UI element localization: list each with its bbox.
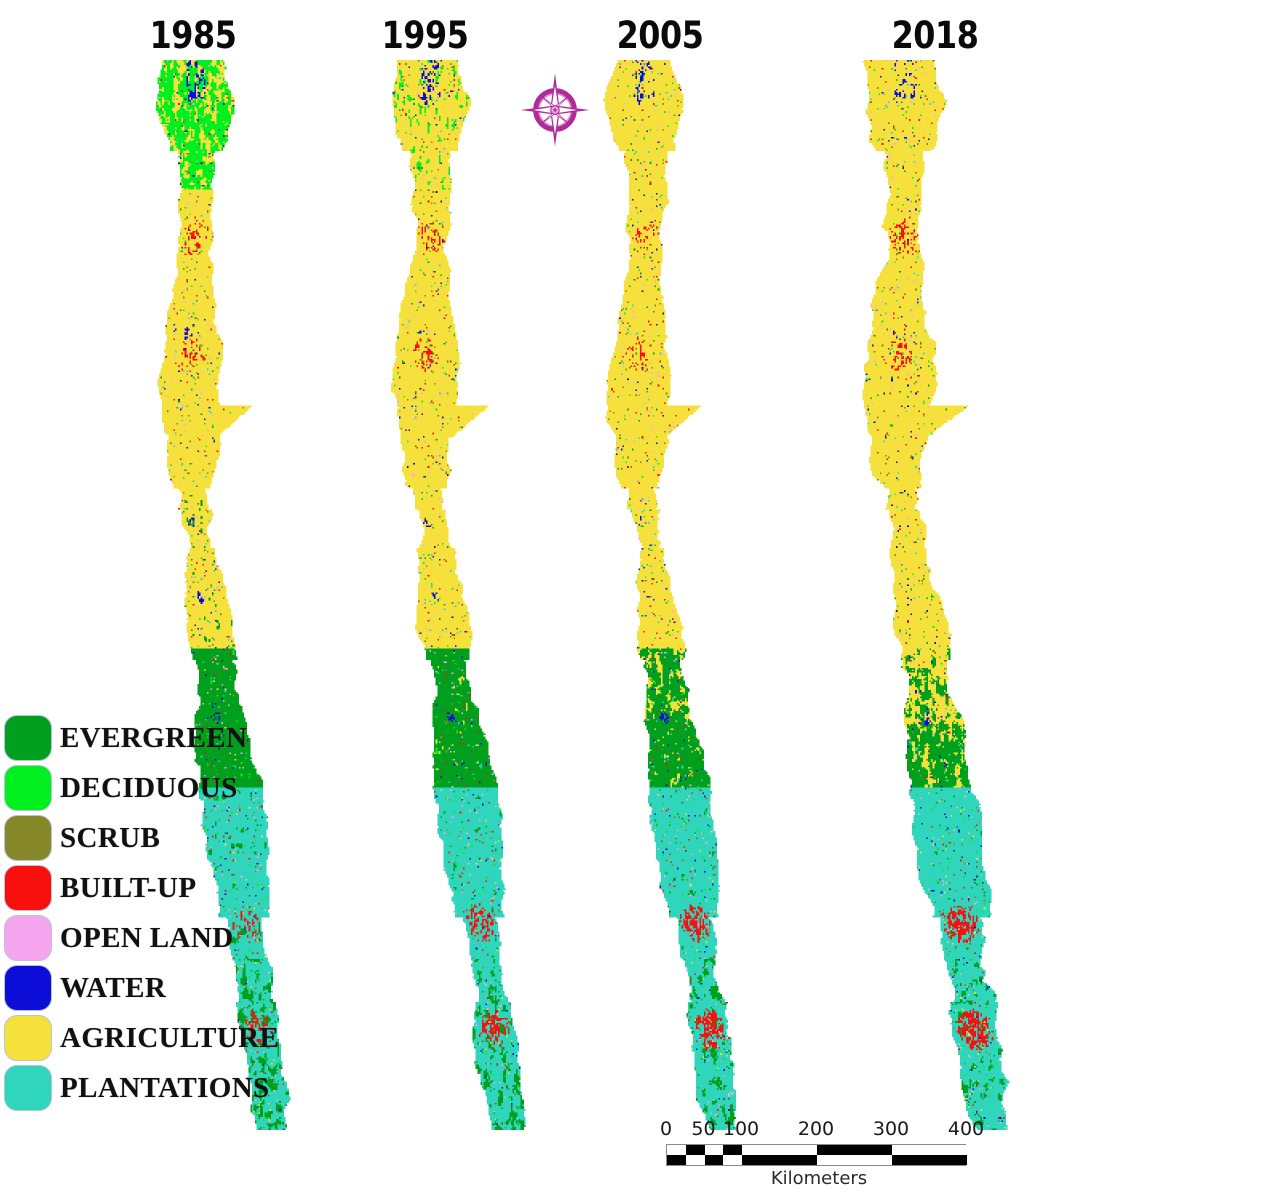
legend-item-builtup: BUILT-UP <box>4 863 334 913</box>
scale-segment-4-bottom <box>742 1155 817 1165</box>
legend-label-agriculture: AGRICULTURE <box>60 1022 279 1055</box>
north-arrow-compass-rose <box>519 72 591 148</box>
legend-swatch-deciduous <box>4 765 52 811</box>
scale-bar-ticks: 050100200300400 <box>660 1118 970 1144</box>
scale-segment-2-bottom <box>705 1155 724 1165</box>
legend-item-water: WATER <box>4 963 334 1013</box>
legend-item-openland: OPEN LAND <box>4 913 334 963</box>
landcover-raster-2005 <box>592 60 757 1130</box>
map-panel-1995 <box>378 60 543 1130</box>
scale-tick-400: 400 <box>948 1118 984 1140</box>
scale-tick-0: 0 <box>660 1118 672 1140</box>
legend-label-evergreen: EVERGREEN <box>60 722 247 755</box>
scale-tick-50: 50 <box>691 1118 715 1140</box>
scale-segment-4-top <box>742 1145 817 1155</box>
year-label-2018: 2018 <box>858 14 1013 57</box>
scale-segment-0-bottom <box>667 1155 686 1165</box>
year-label-1995: 1995 <box>348 14 503 57</box>
year-label-2005: 2005 <box>583 14 738 57</box>
scale-segment-0-top <box>667 1145 686 1155</box>
map-panel-2005 <box>592 60 757 1130</box>
scale-tick-100: 100 <box>723 1118 759 1140</box>
scale-segment-2-top <box>705 1145 724 1155</box>
landcover-raster-2018 <box>845 60 1030 1130</box>
legend-label-scrub: SCRUB <box>60 822 160 855</box>
legend-item-agriculture: AGRICULTURE <box>4 1013 334 1063</box>
legend-item-deciduous: DECIDUOUS <box>4 763 334 813</box>
legend-swatch-water <box>4 965 52 1011</box>
figure-root: 1985199520052018 <box>0 0 1262 1194</box>
scale-segment-5-top <box>817 1145 892 1155</box>
scale-tick-300: 300 <box>873 1118 909 1140</box>
legend-swatch-scrub <box>4 815 52 861</box>
scale-bar: 050100200300400 Kilometers <box>660 1118 970 1189</box>
scale-bar-caption: Kilometers <box>666 1168 972 1189</box>
legend-swatch-plantations <box>4 1065 52 1111</box>
scale-segment-1-bottom <box>686 1155 705 1165</box>
scale-tick-200: 200 <box>798 1118 834 1140</box>
legend-swatch-openland <box>4 915 52 961</box>
legend: EVERGREENDECIDUOUSSCRUBBUILT-UPOPEN LAND… <box>4 713 334 1113</box>
scale-segment-5-bottom <box>817 1155 892 1165</box>
scale-bar-graphic <box>666 1144 966 1166</box>
scale-segment-1-top <box>686 1145 705 1155</box>
map-panel-2018 <box>845 60 1030 1130</box>
legend-label-plantations: PLANTATIONS <box>60 1072 270 1105</box>
legend-label-builtup: BUILT-UP <box>60 872 196 905</box>
legend-item-plantations: PLANTATIONS <box>4 1063 334 1113</box>
scale-segment-3-bottom <box>723 1155 742 1165</box>
legend-label-water: WATER <box>60 972 166 1005</box>
legend-swatch-builtup <box>4 865 52 911</box>
scale-segment-6-bottom <box>892 1155 967 1165</box>
legend-item-evergreen: EVERGREEN <box>4 713 334 763</box>
scale-segment-3-top <box>723 1145 742 1155</box>
legend-item-scrub: SCRUB <box>4 813 334 863</box>
legend-swatch-agriculture <box>4 1015 52 1061</box>
legend-swatch-evergreen <box>4 715 52 761</box>
legend-label-openland: OPEN LAND <box>60 922 234 955</box>
year-label-1985: 1985 <box>116 14 271 57</box>
legend-label-deciduous: DECIDUOUS <box>60 772 238 805</box>
landcover-raster-1995 <box>378 60 543 1130</box>
scale-segment-6-top <box>892 1145 967 1155</box>
